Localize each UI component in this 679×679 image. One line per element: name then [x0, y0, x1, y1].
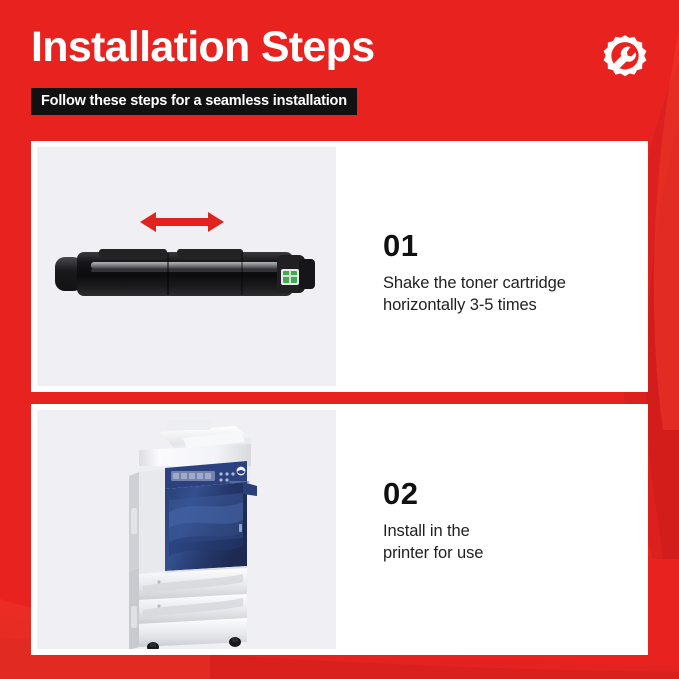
office-printer-photo — [117, 416, 257, 649]
step-text-block: 01 Shake the toner cartridge horizontall… — [336, 141, 648, 392]
poster-root: Installation Steps Follow these steps fo… — [0, 0, 679, 679]
step-number: 02 — [383, 478, 418, 509]
step-number-label: 01 — [383, 228, 418, 263]
header: Installation Steps Follow these steps fo… — [0, 0, 679, 140]
toner-cartridge-illustration — [55, 245, 321, 303]
step-number-label: 02 — [383, 476, 418, 511]
gear-wrench-icon — [598, 33, 652, 87]
step-description: Shake the toner cartridge horizontally 3… — [383, 272, 566, 316]
subtitle-banner: Follow these steps for a seamless instal… — [31, 88, 357, 115]
step-text-block: 02 Install in the printer for use — [336, 404, 648, 655]
step-description: Install in the printer for use — [383, 520, 483, 564]
page-title: Installation Steps — [31, 23, 374, 72]
step-card: 01 Shake the toner cartridge horizontall… — [31, 141, 648, 392]
step-media-printer — [37, 410, 336, 649]
subtitle-text: Follow these steps for a seamless instal… — [41, 93, 347, 109]
double-arrow-horizontal-icon — [138, 209, 226, 235]
step-media-toner — [37, 147, 336, 386]
step-number: 01 — [383, 230, 418, 261]
step-card: 02 Install in the printer for use — [31, 404, 648, 655]
